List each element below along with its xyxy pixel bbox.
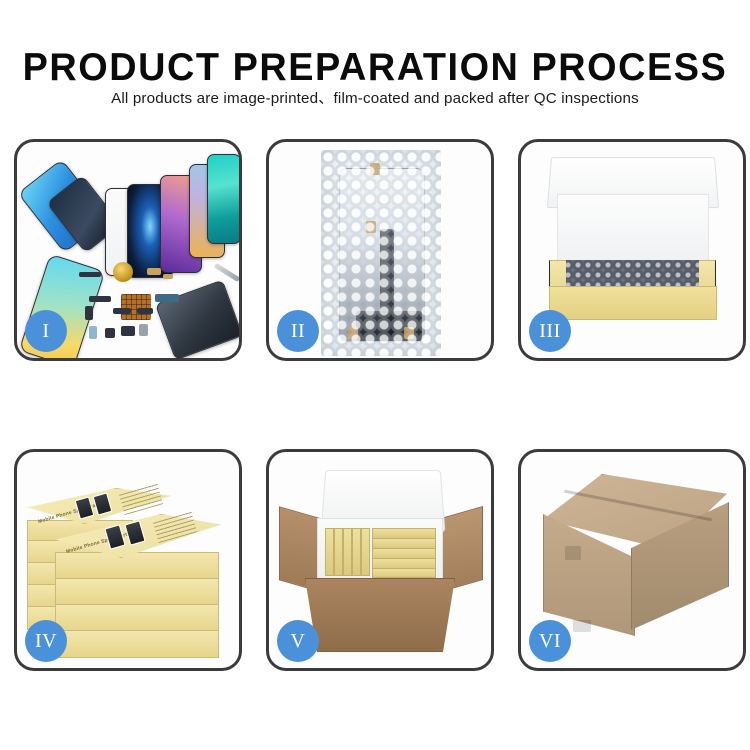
small-part [113, 308, 131, 314]
step-badge: V [277, 620, 319, 662]
adhesive-tape [404, 327, 414, 339]
adhesive-tape [366, 221, 376, 233]
speaker-component [113, 262, 133, 282]
adhesive-tape [370, 163, 380, 175]
small-part [139, 324, 148, 336]
process-step-5: V [266, 449, 494, 671]
small-part [85, 306, 93, 320]
packed-box [334, 528, 343, 576]
small-part [155, 294, 179, 302]
small-part [79, 272, 101, 277]
process-step-3: III [518, 139, 746, 361]
box-spec-lines [119, 483, 164, 515]
packed-box [372, 568, 436, 578]
small-part [89, 296, 111, 302]
carton-tape-patch [573, 620, 591, 632]
small-part [121, 326, 135, 336]
stacked-box [55, 552, 219, 580]
stacked-box [55, 578, 219, 606]
step-badge: III [529, 310, 571, 352]
process-step-6: VI [518, 449, 746, 671]
packed-box [352, 528, 361, 576]
process-step-2: II [266, 139, 494, 361]
step-badge: II [277, 310, 319, 352]
phone-screen-teal [207, 154, 241, 244]
process-step-1: I [14, 139, 242, 361]
foam-backing [557, 194, 709, 270]
carton-body [305, 578, 455, 652]
step-badge: IV [25, 620, 67, 662]
step-badge: I [25, 310, 67, 352]
adhesive-tape [348, 327, 358, 339]
packed-box [325, 528, 334, 576]
step-badge: VI [529, 620, 571, 662]
small-part [105, 328, 115, 338]
product-preparation-infographic: PRODUCT PREPARATION PROCESS All products… [0, 0, 750, 750]
small-part [163, 274, 173, 279]
process-step-4: Mobile Phone Spare Parts Mobile Phone Sp… [14, 449, 242, 671]
stacked-box [55, 604, 219, 632]
bubble-wrap-bag [321, 150, 441, 356]
phone-rear-housing [155, 279, 242, 360]
carton-tape-patch [565, 546, 581, 560]
lcd-assembly [339, 168, 425, 342]
process-step-grid: I II [0, 0, 750, 750]
small-part [137, 308, 153, 314]
stacked-box [55, 630, 219, 658]
box-front-yellow [549, 286, 717, 320]
packed-box [361, 528, 370, 576]
logic-board-chip [121, 294, 151, 320]
small-part [147, 268, 161, 275]
repair-tweezers [214, 263, 240, 282]
packed-box [343, 528, 352, 576]
small-part [89, 326, 97, 339]
